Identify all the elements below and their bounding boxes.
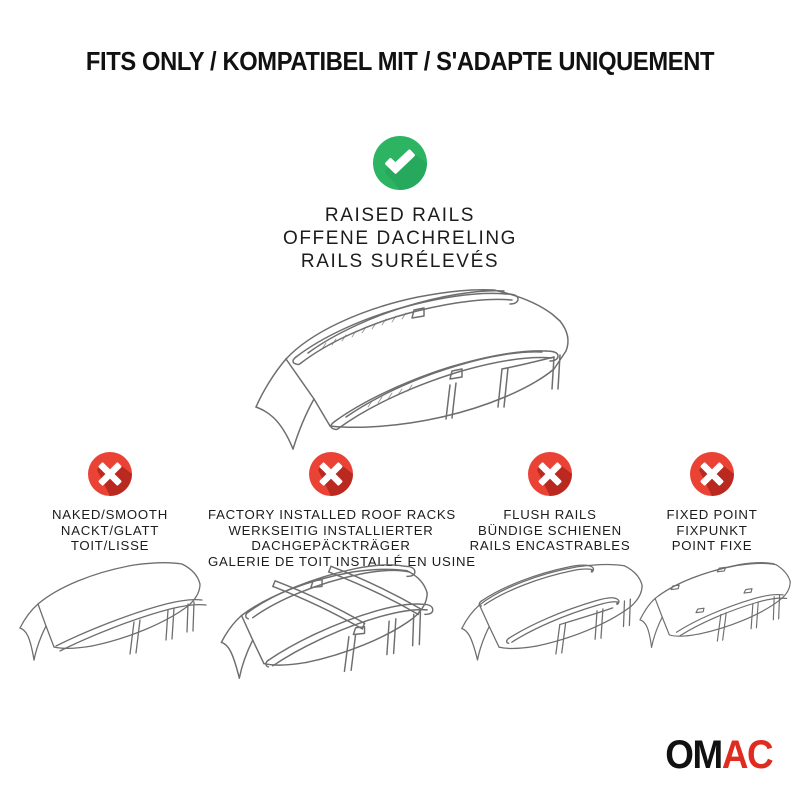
car-roof-with-fixed-points-illustration bbox=[632, 554, 792, 683]
logo-text-dark: OM bbox=[665, 733, 722, 777]
label-line-2: NACKT/GLATT bbox=[10, 523, 210, 539]
incompatible-labels-naked: NAKED/SMOOTH NACKT/GLATT TOIT/LISSE bbox=[10, 507, 210, 554]
page-title: FITS ONLY / KOMPATIBEL MIT / S'ADAPTE UN… bbox=[28, 48, 772, 77]
incompatible-option-factory: FACTORY INSTALLED ROOF RACKS WERKSEITIG … bbox=[208, 452, 454, 569]
compatible-label-fr: RAILS SURÉLEVÉS bbox=[0, 250, 800, 273]
label-line-1: FIXED POINT bbox=[632, 507, 792, 523]
check-circle-icon bbox=[373, 136, 427, 190]
incompatible-labels-flush: FLUSH RAILS BÜNDIGE SCHIENEN RAILS ENCAS… bbox=[452, 507, 648, 554]
label-line-2: WERKSEITIG INSTALLIERTER bbox=[208, 523, 454, 539]
x-circle-icon bbox=[690, 452, 734, 496]
x-circle-icon bbox=[528, 452, 572, 496]
x-circle-icon bbox=[88, 452, 132, 496]
label-line-2: BÜNDIGE SCHIENEN bbox=[452, 523, 648, 539]
label-line-3: DACHGEPÄCKTRÄGER bbox=[208, 538, 454, 554]
compatible-label-de: OFFENE DACHRELING bbox=[0, 227, 800, 250]
header: FITS ONLY / KOMPATIBEL MIT / S'ADAPTE UN… bbox=[0, 48, 800, 77]
compatible-label-en: RAISED RAILS bbox=[0, 204, 800, 227]
omac-logo: OMAC bbox=[665, 735, 772, 775]
incompatible-option-fixedpoint: FIXED POINT FIXPUNKT POINT FIXE bbox=[632, 452, 792, 554]
incompatible-labels-fixedpoint: FIXED POINT FIXPUNKT POINT FIXE bbox=[632, 507, 792, 554]
car-roof-with-flush-rails-illustration bbox=[452, 554, 648, 696]
compatible-labels: RAISED RAILS OFFENE DACHRELING RAILS SUR… bbox=[0, 204, 800, 273]
label-line-1: FLUSH RAILS bbox=[452, 507, 648, 523]
label-line-2: FIXPUNKT bbox=[632, 523, 792, 539]
incompatible-option-flush: FLUSH RAILS BÜNDIGE SCHIENEN RAILS ENCAS… bbox=[452, 452, 648, 554]
label-line-1: FACTORY INSTALLED ROOF RACKS bbox=[208, 507, 454, 523]
car-roof-bare-illustration bbox=[10, 554, 210, 694]
car-roof-with-raised-rails-illustration bbox=[150, 281, 650, 476]
incompatible-option-naked: NAKED/SMOOTH NACKT/GLATT TOIT/LISSE bbox=[10, 452, 210, 554]
compatible-section: RAISED RAILS OFFENE DACHRELING RAILS SUR… bbox=[0, 136, 800, 273]
label-line-3: TOIT/LISSE bbox=[10, 538, 210, 554]
label-line-3: RAILS ENCASTRABLES bbox=[452, 538, 648, 554]
label-line-3: POINT FIXE bbox=[632, 538, 792, 554]
label-line-1: NAKED/SMOOTH bbox=[10, 507, 210, 523]
logo-text-red: AC bbox=[722, 733, 772, 777]
car-roof-with-factory-crossbars-illustration bbox=[208, 554, 454, 716]
x-circle-icon bbox=[309, 452, 353, 496]
